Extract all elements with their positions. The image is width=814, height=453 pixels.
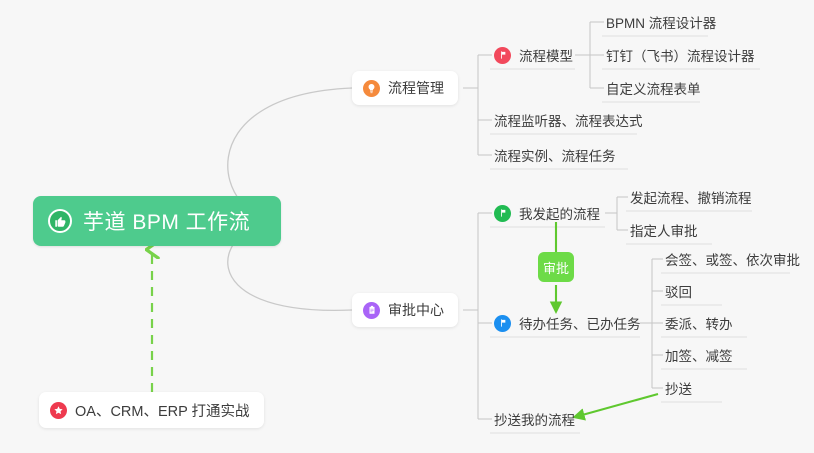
node-my-started-process[interactable]: 我发起的流程 — [490, 199, 606, 227]
node-delegate-transfer-label: 委派、转办 — [665, 313, 733, 333]
node-cc-to-me-process[interactable]: 抄送我的流程 — [490, 405, 581, 433]
node-add-remove-sign[interactable]: 加签、减签 — [661, 341, 739, 369]
node-reject-label: 驳回 — [665, 281, 692, 301]
node-listener-expression[interactable]: 流程监听器、流程表达式 — [490, 106, 649, 134]
mindmap-canvas: 芋道 BPM 工作流 流程管理 流程模型 BPMN 流程设计器 钉钉（飞书）流程… — [0, 0, 814, 453]
node-todo-done-task[interactable]: 待办任务、已办任务 — [490, 309, 647, 337]
node-dingtalk-feishu-designer-label: 钉钉（飞书）流程设计器 — [606, 45, 755, 65]
flag-icon — [494, 315, 511, 332]
node-cc-label: 抄送 — [665, 378, 692, 398]
node-custom-process-form[interactable]: 自定义流程表单 — [602, 74, 707, 102]
node-multi-sign-label: 会签、或签、依次审批 — [665, 249, 800, 269]
node-cc-to-me-process-label: 抄送我的流程 — [494, 409, 575, 429]
badge-approval[interactable]: 审批 — [538, 252, 574, 282]
node-bpmn-designer[interactable]: BPMN 流程设计器 — [602, 8, 722, 36]
node-process-model-label: 流程模型 — [519, 45, 573, 65]
node-approval-center-label: 审批中心 — [388, 300, 444, 320]
thumbs-up-icon — [48, 209, 72, 233]
node-integration-note-label: OA、CRM、ERP 打通实战 — [75, 400, 250, 421]
node-approval-center[interactable]: 审批中心 — [352, 293, 458, 327]
node-multi-sign[interactable]: 会签、或签、依次审批 — [661, 245, 806, 273]
node-process-management[interactable]: 流程管理 — [352, 71, 458, 105]
node-instance-task[interactable]: 流程实例、流程任务 — [490, 141, 622, 169]
node-process-management-label: 流程管理 — [388, 78, 444, 98]
node-start-cancel-process[interactable]: 发起流程、撤销流程 — [626, 183, 758, 211]
node-cc[interactable]: 抄送 — [661, 374, 698, 402]
root-node-label: 芋道 BPM 工作流 — [83, 206, 250, 236]
flag-icon — [494, 47, 511, 64]
node-process-model[interactable]: 流程模型 — [490, 41, 579, 69]
root-node-bpm-workflow[interactable]: 芋道 BPM 工作流 — [33, 196, 281, 246]
node-custom-process-form-label: 自定义流程表单 — [606, 78, 701, 98]
node-delegate-transfer[interactable]: 委派、转办 — [661, 309, 739, 337]
node-listener-expression-label: 流程监听器、流程表达式 — [494, 110, 643, 130]
clipboard-icon — [363, 302, 380, 319]
node-add-remove-sign-label: 加签、减签 — [665, 345, 733, 365]
star-icon — [50, 402, 67, 419]
flag-icon — [494, 205, 511, 222]
node-assignee-approval[interactable]: 指定人审批 — [626, 216, 704, 244]
node-bpmn-designer-label: BPMN 流程设计器 — [606, 12, 716, 32]
node-my-started-process-label: 我发起的流程 — [519, 203, 600, 223]
node-start-cancel-process-label: 发起流程、撤销流程 — [630, 187, 752, 207]
node-assignee-approval-label: 指定人审批 — [630, 220, 698, 240]
node-instance-task-label: 流程实例、流程任务 — [494, 145, 616, 165]
badge-approval-label: 审批 — [543, 258, 569, 277]
node-todo-done-task-label: 待办任务、已办任务 — [519, 313, 641, 333]
node-reject[interactable]: 驳回 — [661, 277, 698, 305]
lightbulb-icon — [363, 80, 380, 97]
node-dingtalk-feishu-designer[interactable]: 钉钉（飞书）流程设计器 — [602, 41, 761, 69]
node-integration-note[interactable]: OA、CRM、ERP 打通实战 — [39, 392, 264, 428]
